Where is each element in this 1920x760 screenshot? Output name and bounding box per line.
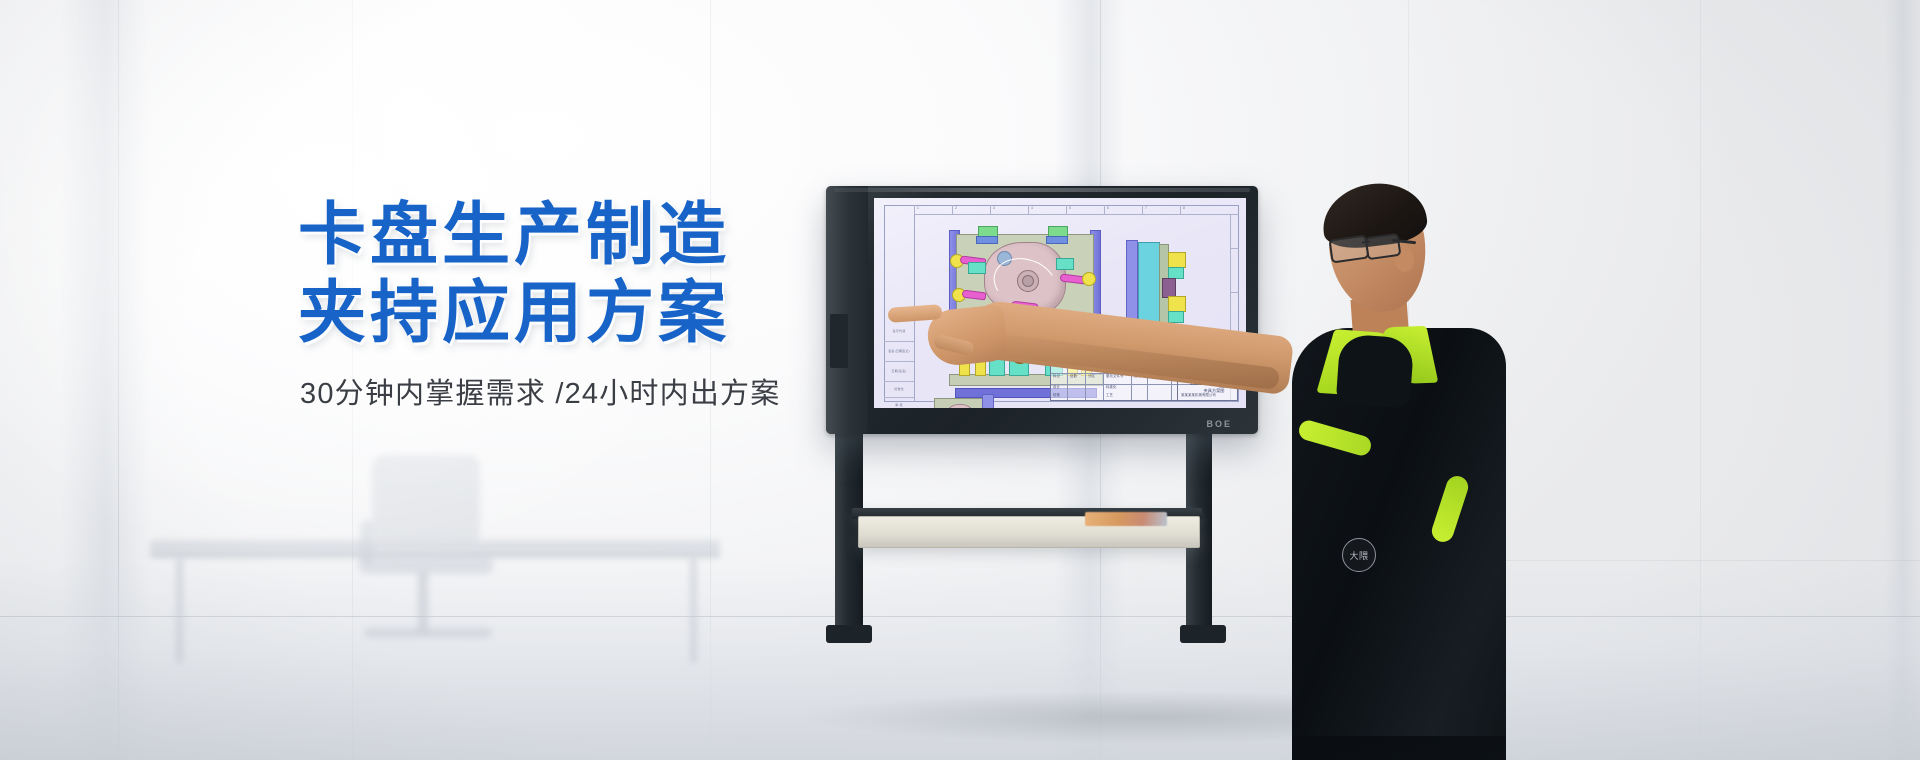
headline-line-1: 卡盘生产制造	[298, 196, 858, 274]
ruler-tick-label: 6	[1107, 206, 1109, 210]
clamp-left-block	[968, 262, 984, 272]
clamp-pad	[1046, 236, 1068, 244]
tray-object	[1085, 512, 1167, 526]
title-block-header: 分区	[1088, 375, 1095, 378]
ruler-tick-label: 4	[1031, 206, 1033, 210]
ruler-tick-label: 5	[1069, 206, 1071, 210]
hero-banner: 卡盘生产制造 夹持应用方案 30分钟内掌握需求 /24小时内出方案 签字代替 签…	[0, 0, 1920, 760]
drawing-left-cell: 签字代替	[884, 321, 914, 342]
drawing-left-cell: 审 核	[884, 397, 914, 408]
office-chair-base	[364, 628, 492, 638]
ruler-tick-label: 2	[955, 206, 957, 210]
office-chair-back	[372, 455, 480, 543]
office-chair-stem	[418, 572, 428, 632]
drawing-left-cell: 标准化	[884, 381, 914, 398]
title-block-header: 处数	[1070, 375, 1077, 378]
office-desk-leg-left	[176, 558, 183, 663]
ruler-tick-label: 7	[1145, 206, 1147, 210]
title-block-header: 标记	[1053, 375, 1060, 378]
display-side-port-cover	[830, 314, 848, 368]
ruler-tick-label: 3	[993, 206, 995, 210]
clamp-arm	[962, 290, 987, 301]
drawing-left-cell: 日期(签名)	[884, 361, 914, 382]
presenter-shirt-logo: 大隈	[1342, 538, 1376, 572]
drawing-left-column: 签字代替 签名(日期签记) 日期(签名) 标准化 审 核 工 艺	[884, 205, 915, 402]
drawing-left-cell: 签名(日期签记)	[884, 341, 914, 362]
ruler-tick-label: 1	[917, 206, 919, 210]
clamp-bracket	[1162, 278, 1176, 298]
title-block-cell: 校核	[1053, 394, 1060, 397]
floor-wall-junction	[0, 616, 1920, 617]
clamp-right-block	[1056, 258, 1072, 268]
headline-block: 卡盘生产制造 夹持应用方案 30分钟内掌握需求 /24小时内出方案	[298, 196, 858, 414]
clamp-block	[968, 262, 986, 274]
presenter-collar-placket	[1336, 334, 1415, 409]
banner-subtitle: 30分钟内掌握需求 /24小时内出方案	[300, 374, 858, 414]
iso-rail	[982, 394, 994, 408]
display-stand-foot-left	[826, 625, 872, 643]
clamp-base	[1082, 272, 1096, 286]
headline-line-2: 夹持应用方案	[298, 274, 858, 352]
presenter: 大隈	[1180, 180, 1600, 760]
office-desk-leg-right	[690, 558, 697, 663]
presenter-shirt-hem	[1292, 736, 1506, 760]
title-block-cell: 工艺	[1106, 394, 1113, 397]
glasses-lens-right-icon	[1365, 233, 1402, 261]
clamp-pad	[976, 236, 998, 244]
clamp-top-right	[1044, 226, 1070, 244]
clamp-right	[1060, 270, 1096, 286]
cad-view-isometric	[934, 394, 994, 408]
title-block-cell: 标准化	[1106, 386, 1116, 389]
clamp-block	[1056, 258, 1074, 270]
clamp-left-lower	[952, 286, 986, 302]
title-block-cell: 设计	[1053, 386, 1060, 389]
display-bezel-side	[826, 186, 868, 434]
title-block-header: 更改文件号	[1106, 375, 1123, 378]
clamp-top-left	[974, 226, 1000, 244]
